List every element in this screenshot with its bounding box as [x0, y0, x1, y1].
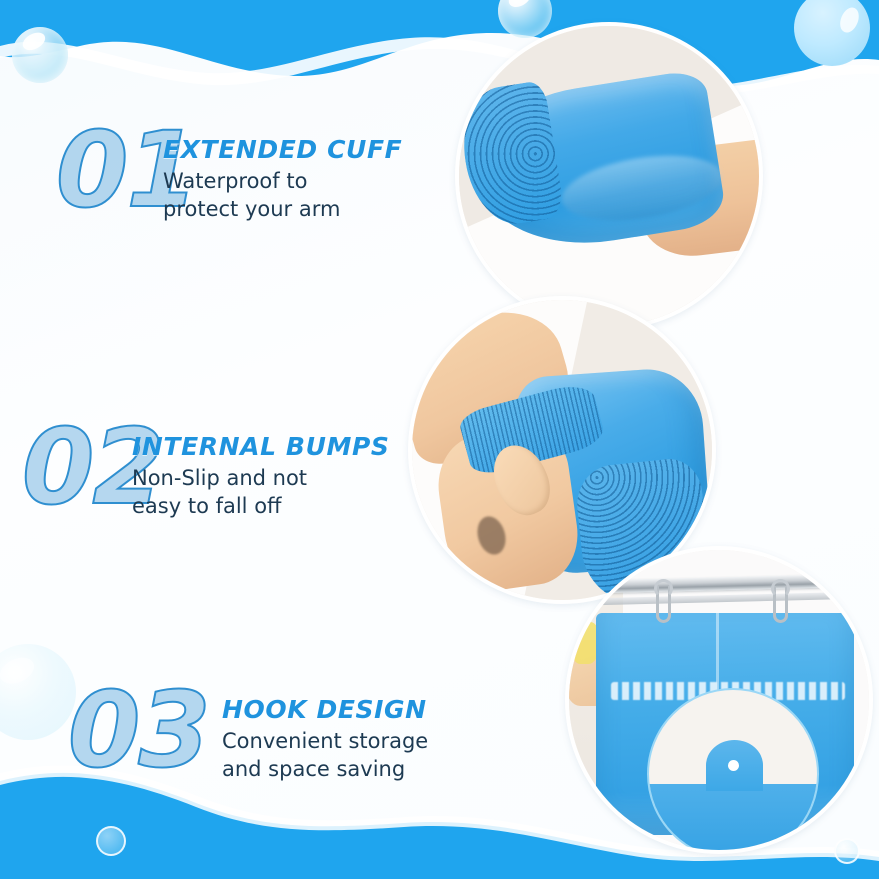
photo-extended-cuff — [455, 22, 763, 330]
feature-title-03: HOOK DESIGN — [222, 695, 532, 724]
feature-desc-01-line2: protect your arm — [163, 196, 453, 224]
bubble-top-left-icon — [12, 27, 68, 83]
feature-desc-02-line1: Non-Slip and not — [132, 465, 432, 493]
photo-hook-design — [565, 546, 873, 854]
feature-block-01: EXTENDED CUFF Waterproof to protect your… — [163, 135, 453, 223]
feature-block-03: HOOK DESIGN Convenient storage and space… — [222, 695, 532, 783]
hook-detail-inset — [647, 688, 819, 854]
feature-number-03: 03 — [68, 678, 209, 782]
bubble-bottom-left-icon — [96, 826, 126, 856]
feature-desc-03-line1: Convenient storage — [222, 728, 532, 756]
bubble-left-mid-icon — [0, 644, 76, 740]
feature-desc-03-line2: and space saving — [222, 756, 532, 784]
infographic-canvas: 01 EXTENDED CUFF Waterproof to protect y… — [0, 0, 879, 879]
feature-title-02: INTERNAL BUMPS — [132, 432, 432, 461]
hook-icon-left — [656, 586, 671, 623]
feature-title-01: EXTENDED CUFF — [163, 135, 453, 164]
hook-icon-right — [773, 586, 788, 623]
feature-block-02: INTERNAL BUMPS Non-Slip and not easy to … — [132, 432, 432, 520]
feature-desc-01-line1: Waterproof to — [163, 168, 453, 196]
feature-desc-02-line2: easy to fall off — [132, 493, 432, 521]
bubble-top-right-icon — [794, 0, 870, 66]
